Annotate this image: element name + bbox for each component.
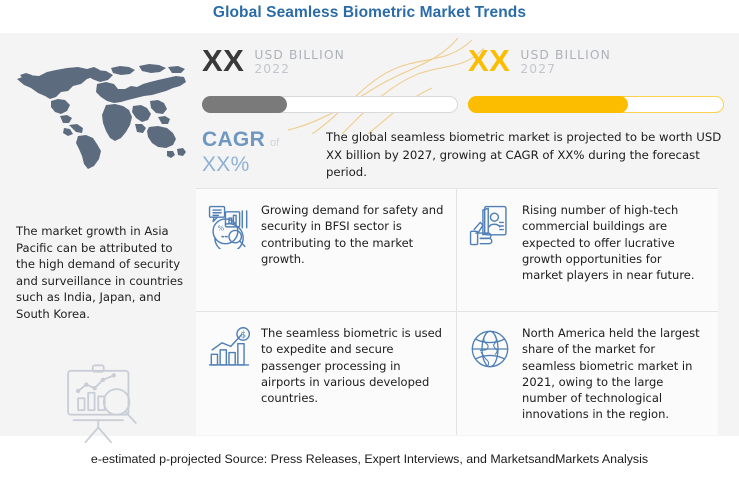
insight-card-text: Growing demand for safety and security i…: [261, 201, 444, 267]
infographic-root: Global Seamless Biometric Market Trends: [0, 0, 739, 479]
insight-card-bfsi: % Growing demand for safety and security…: [196, 189, 457, 312]
left-column: The market growth in Asia Pacific can be…: [0, 33, 192, 436]
insight-card-text: The seamless biometric is used to expedi…: [261, 324, 444, 406]
stat-year: 2022: [254, 62, 345, 77]
footer-source-note: e-estimated p-projected Source: Press Re…: [0, 452, 739, 466]
cagr-description: The global seamless biometric market is …: [326, 129, 726, 182]
insight-card-text: North America held the largest share of …: [522, 324, 706, 423]
cagr-row: CAGR of XX% The global seamless biometri…: [202, 128, 732, 184]
svg-text:$: $: [241, 331, 247, 341]
stat-2022: XX USD BILLION 2022: [202, 46, 460, 113]
cagr-value: XX%: [202, 153, 320, 177]
hand-id-card-icon: [467, 203, 513, 249]
stat-year: 2027: [520, 62, 611, 77]
insight-card-commercial-buildings: Rising number of high-tech commercial bu…: [457, 189, 718, 312]
cagr-label: CAGR: [202, 128, 265, 152]
cagr-of-label: of: [270, 137, 279, 149]
stat-value: XX: [202, 46, 244, 76]
stat-2027: XX USD BILLION 2027: [468, 46, 726, 113]
svg-text:%: %: [218, 223, 225, 232]
left-panel-description: The market growth in Asia Pacific can be…: [16, 223, 184, 323]
bar-chart-dollar-growth-icon: $: [206, 326, 252, 372]
stat-unit: USD BILLION: [520, 48, 611, 62]
globe-icon: [467, 326, 513, 372]
page-title: Global Seamless Biometric Market Trends: [0, 4, 739, 22]
insight-card-text: Rising number of high-tech commercial bu…: [522, 201, 706, 283]
cagr-block: CAGR of XX%: [202, 128, 320, 177]
world-map-icon: [8, 53, 188, 171]
chart-presentation-magnifier-icon: [55, 358, 147, 444]
progress-fill: [468, 96, 628, 113]
insight-card-airports: $ The seamless biometric is used to expe…: [196, 312, 457, 435]
progress-bar-2022: [202, 96, 458, 113]
progress-fill: [202, 96, 287, 113]
progress-bar-2027: [468, 96, 724, 113]
chart-pie-analytics-icon: %: [206, 203, 252, 249]
stat-unit: USD BILLION: [254, 48, 345, 62]
stats-row: XX USD BILLION 2022 XX USD BILLION 2027: [192, 40, 739, 130]
stat-value: XX: [468, 46, 510, 76]
insight-cards-grid: % Growing demand for safety and security…: [196, 188, 718, 435]
insight-card-north-america: North America held the largest share of …: [457, 312, 718, 435]
